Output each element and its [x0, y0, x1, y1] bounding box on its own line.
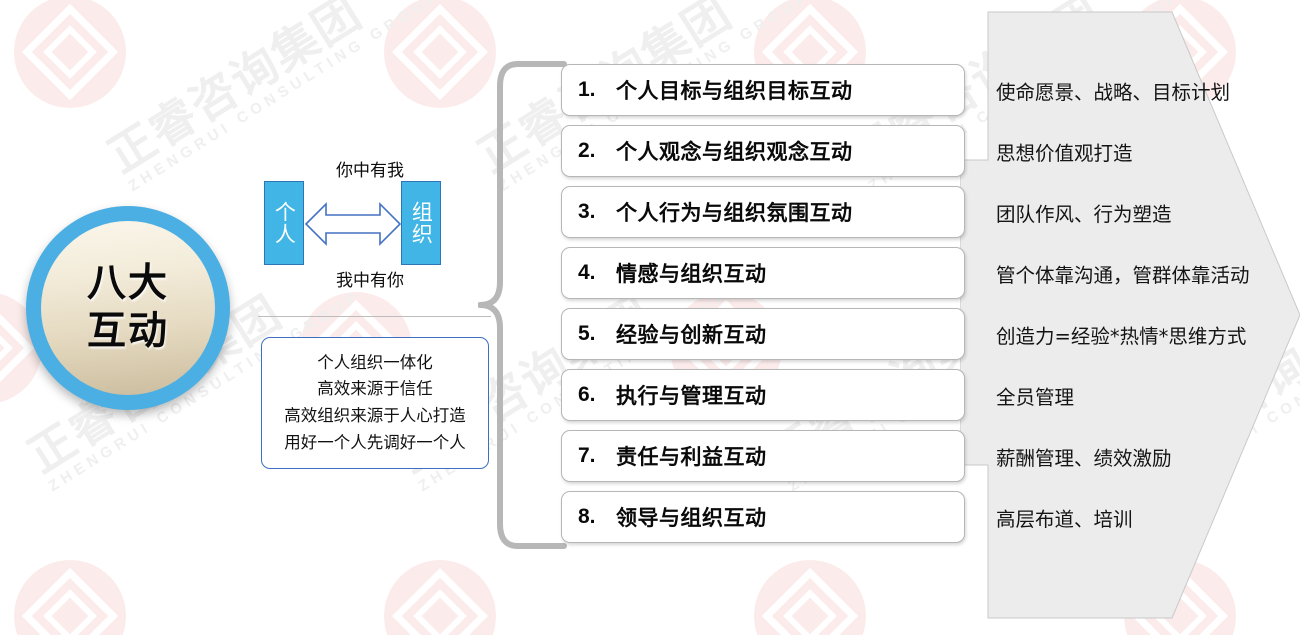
chevron-label: 薪酬管理、绩效激励	[996, 426, 1296, 487]
center-circle-inner: 八大 互动	[41, 221, 215, 395]
watermark-logo-icon	[14, 560, 126, 635]
list-item-number: 7.	[578, 444, 616, 468]
chevron-label: 创造力=经验*热情*思维方式	[996, 304, 1296, 365]
center-circle-line2: 互动	[87, 308, 169, 356]
section-divider	[258, 316, 491, 317]
watermark-logo-icon	[14, 0, 126, 108]
list-item[interactable]: 5. 经验与创新互动	[561, 308, 965, 360]
list-item-number: 3.	[578, 200, 616, 224]
chevron-label: 全员管理	[996, 365, 1296, 426]
list-item[interactable]: 2. 个人观念与组织观念互动	[561, 125, 965, 177]
chevron-label: 管个体靠沟通，管群体靠活动	[996, 243, 1296, 304]
list-item-number: 5.	[578, 322, 616, 346]
individual-organization-group: 你中有我 个人 组织 我中有你	[255, 150, 485, 295]
list-item-label: 个人目标与组织目标互动	[616, 75, 853, 105]
io-caption-top: 你中有我	[255, 156, 485, 181]
list-item-number: 8.	[578, 505, 616, 529]
organization-box: 组织	[401, 181, 441, 265]
list-item-label: 责任与利益互动	[616, 441, 767, 471]
individual-box: 个人	[264, 181, 304, 265]
list-item[interactable]: 1. 个人目标与组织目标互动	[561, 64, 965, 116]
list-item-number: 2.	[578, 139, 616, 163]
list-item-label: 领导与组织互动	[616, 502, 767, 532]
list-item-label: 情感与组织互动	[616, 258, 767, 288]
list-item[interactable]: 6. 执行与管理互动	[561, 369, 965, 421]
list-item[interactable]: 8. 领导与组织互动	[561, 491, 965, 543]
list-item-label: 经验与创新互动	[616, 319, 767, 349]
organization-box-label: 组织	[410, 201, 433, 245]
center-circle-line1: 八大	[87, 260, 169, 308]
list-item[interactable]: 4. 情感与组织互动	[561, 247, 965, 299]
list-item-label: 个人观念与组织观念互动	[616, 136, 853, 166]
list-item-number: 6.	[578, 383, 616, 407]
principle-line: 高效来源于信任	[317, 376, 433, 403]
principle-line: 高效组织来源于人心打造	[284, 403, 466, 430]
list-item-number: 4.	[578, 261, 616, 285]
principle-line: 个人组织一体化	[317, 350, 433, 377]
chevron-label: 高层布道、培训	[996, 487, 1296, 548]
center-circle-node: 八大 互动	[26, 206, 230, 410]
list-item[interactable]: 3. 个人行为与组织氛围互动	[561, 186, 965, 238]
watermark-logo-icon	[384, 560, 496, 635]
list-item-label: 个人行为与组织氛围互动	[616, 197, 853, 227]
interaction-list: 1. 个人目标与组织目标互动 2. 个人观念与组织观念互动 3. 个人行为与组织…	[561, 64, 965, 552]
chevron-label-list: 使命愿景、战略、目标计划 思想价值观打造 团队作风、行为塑造 管个体靠沟通，管群…	[996, 60, 1296, 548]
individual-box-label: 个人	[273, 201, 296, 245]
chevron-label: 思想价值观打造	[996, 121, 1296, 182]
diagram-canvas: 正睿咨询集团 ZHENGRUI CONSULTING GROUP 正睿咨询集团 …	[0, 0, 1300, 635]
io-caption-bottom: 我中有你	[255, 266, 485, 291]
chevron-label: 团队作风、行为塑造	[996, 182, 1296, 243]
curly-brace-icon	[478, 60, 568, 550]
principle-line: 用好一个人先调好一个人	[284, 430, 466, 457]
double-arrow-icon	[304, 198, 402, 250]
watermark-logo-icon	[754, 560, 866, 635]
list-item-label: 执行与管理互动	[616, 380, 767, 410]
list-item-number: 1.	[578, 78, 616, 102]
principles-box: 个人组织一体化 高效来源于信任 高效组织来源于人心打造 用好一个人先调好一个人	[261, 337, 489, 469]
list-item[interactable]: 7. 责任与利益互动	[561, 430, 965, 482]
chevron-label: 使命愿景、战略、目标计划	[996, 60, 1296, 121]
